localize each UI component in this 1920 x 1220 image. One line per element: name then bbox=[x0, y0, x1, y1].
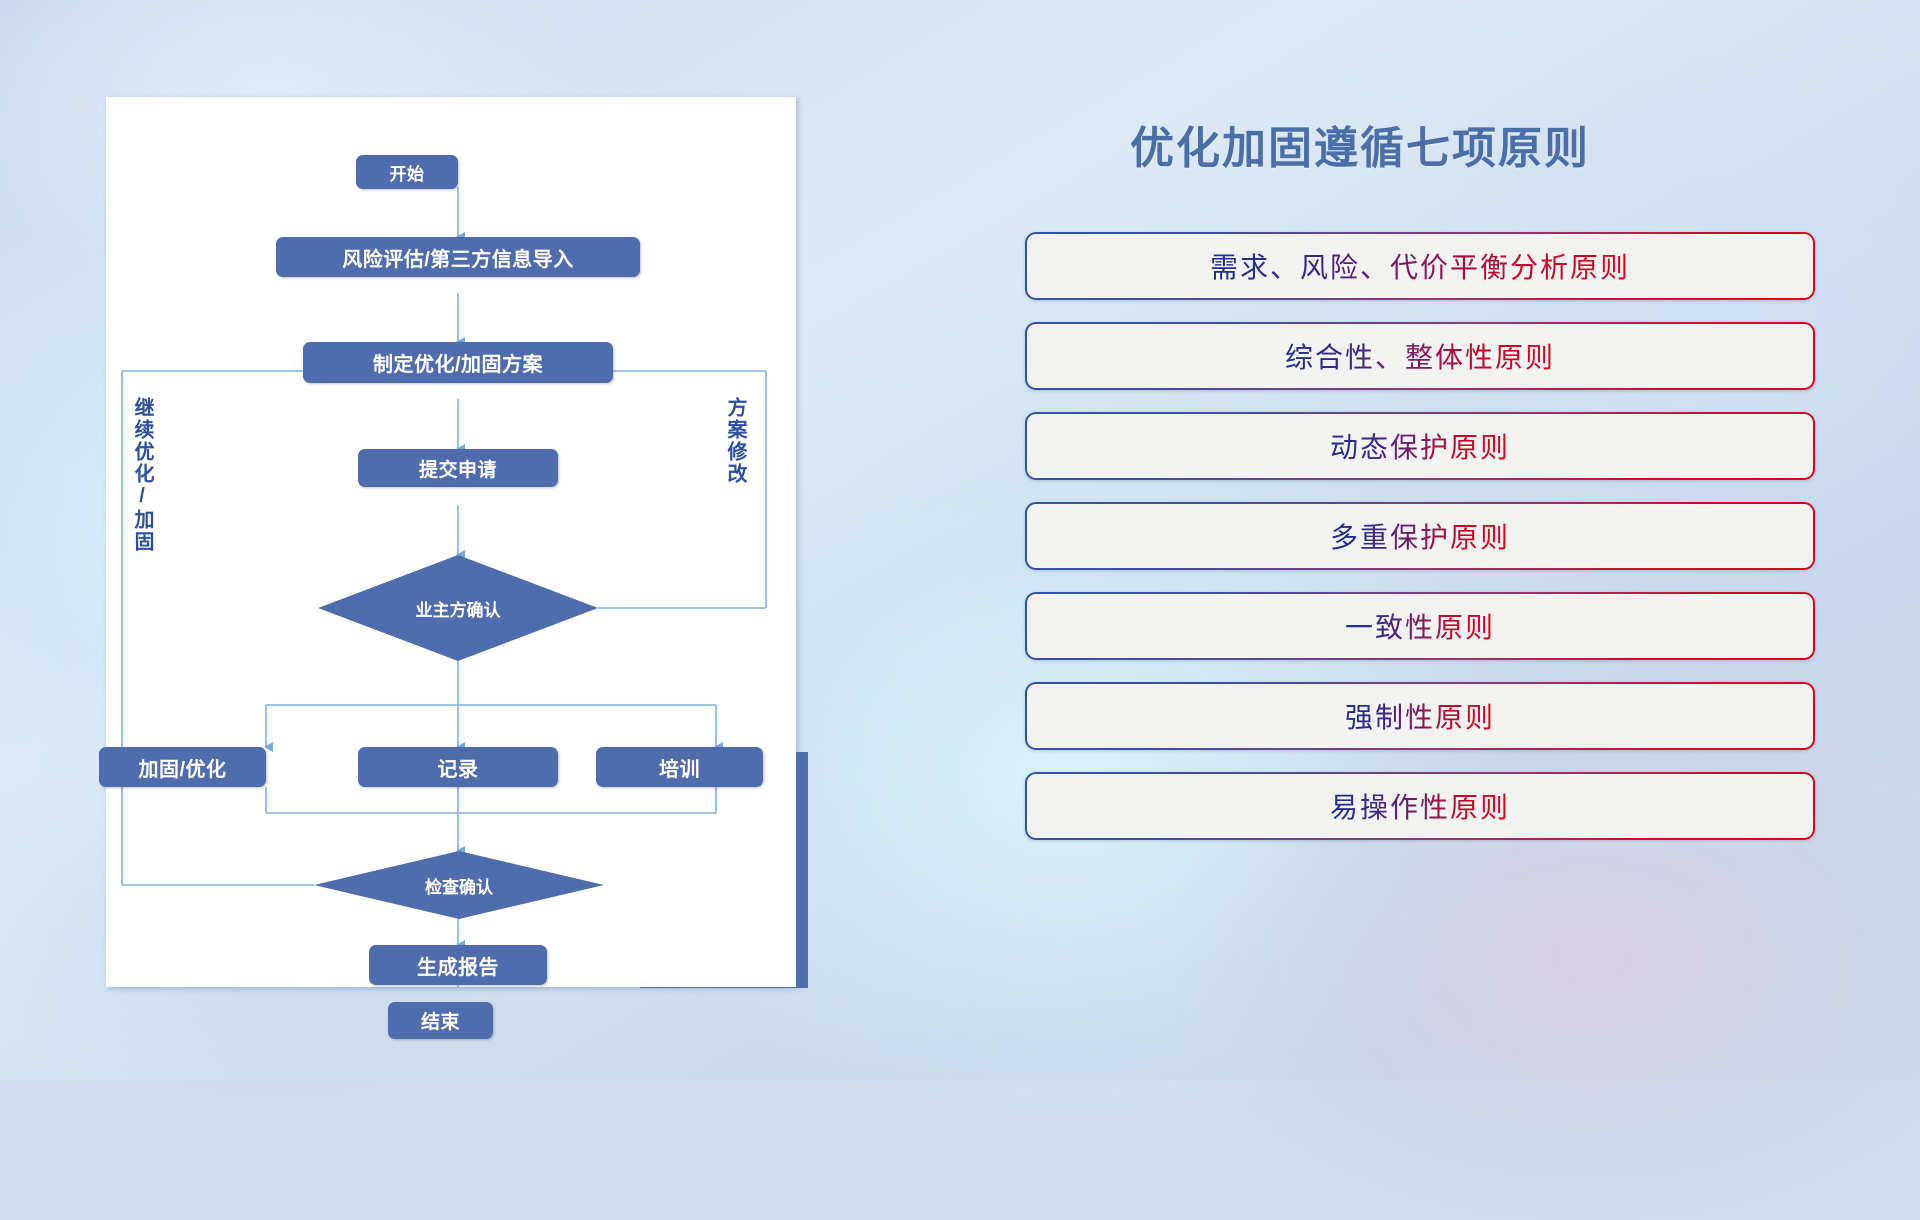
principle-card[interactable]: 多重保护原则 bbox=[1025, 502, 1815, 570]
principle-label: 一致性原则 bbox=[1345, 606, 1495, 646]
principle-label: 综合性、整体性原则 bbox=[1285, 336, 1555, 376]
principle-card-inner: 多重保护原则 bbox=[1027, 504, 1813, 568]
flow-node-record[interactable]: 记录 bbox=[358, 747, 558, 787]
flow-node-training[interactable]: 培训 bbox=[596, 747, 763, 787]
flow-node-reinforce-optimize[interactable]: 加固/优化 bbox=[99, 747, 266, 787]
flow-node-generate-report[interactable]: 生成报告 bbox=[369, 945, 547, 985]
principle-card[interactable]: 易操作性原则 bbox=[1025, 772, 1815, 840]
flow-node-submit-application[interactable]: 提交申请 bbox=[358, 449, 558, 487]
flow-edge-label-plan-revision: 方案修改 bbox=[724, 397, 745, 485]
principle-label: 需求、风险、代价平衡分析原则 bbox=[1210, 246, 1630, 286]
principle-card-inner: 一致性原则 bbox=[1027, 594, 1813, 658]
panel-title: 优化加固遵循七项原则 bbox=[1000, 112, 1720, 176]
flow-edge-label-continue-optimize: 继续优化/加固 bbox=[131, 397, 152, 553]
principle-label: 易操作性原则 bbox=[1330, 786, 1510, 826]
principle-card-inner: 综合性、整体性原则 bbox=[1027, 324, 1813, 388]
principle-card[interactable]: 动态保护原则 bbox=[1025, 412, 1815, 480]
flow-node-start[interactable]: 开始 bbox=[356, 155, 458, 189]
flowchart-card: 开始 风险评估/第三方信息导入 制定优化/加固方案 提交申请 业主方确认 加固/… bbox=[106, 97, 796, 987]
principle-card-inner: 动态保护原则 bbox=[1027, 414, 1813, 478]
flow-node-end[interactable]: 结束 bbox=[388, 1002, 493, 1039]
principle-card[interactable]: 强制性原则 bbox=[1025, 682, 1815, 750]
principle-card-inner: 需求、风险、代价平衡分析原则 bbox=[1027, 234, 1813, 298]
principle-card-inner: 强制性原则 bbox=[1027, 684, 1813, 748]
principle-card[interactable]: 一致性原则 bbox=[1025, 592, 1815, 660]
principle-card-inner: 易操作性原则 bbox=[1027, 774, 1813, 838]
principle-list: 需求、风险、代价平衡分析原则 综合性、整体性原则 动态保护原则 多重保护原则 一… bbox=[1025, 232, 1815, 862]
principle-label: 多重保护原则 bbox=[1330, 516, 1510, 556]
flow-node-risk-assessment[interactable]: 风险评估/第三方信息导入 bbox=[276, 237, 640, 277]
flow-node-make-plan[interactable]: 制定优化/加固方案 bbox=[303, 342, 613, 383]
principle-card[interactable]: 综合性、整体性原则 bbox=[1025, 322, 1815, 390]
principle-label: 强制性原则 bbox=[1345, 696, 1495, 736]
principle-label: 动态保护原则 bbox=[1330, 426, 1510, 466]
principle-card[interactable]: 需求、风险、代价平衡分析原则 bbox=[1025, 232, 1815, 300]
